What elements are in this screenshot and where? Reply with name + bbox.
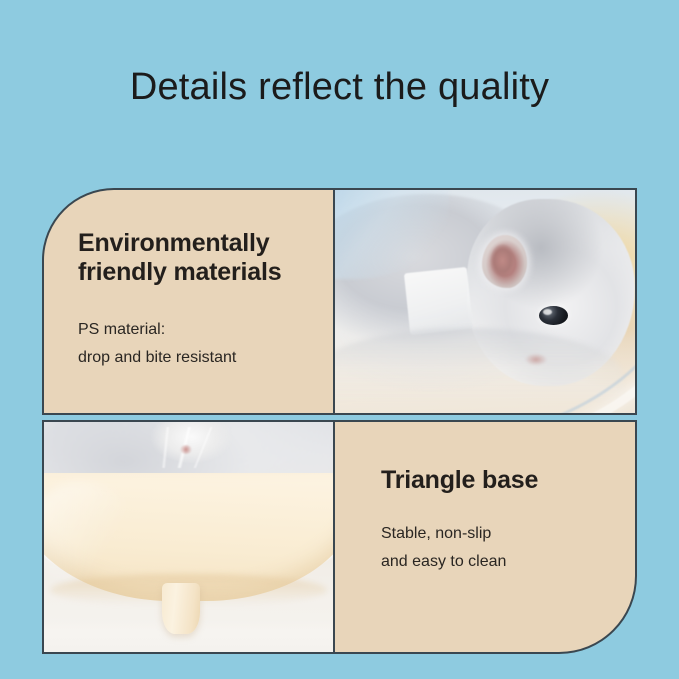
- bowl-base-photo: [44, 422, 333, 652]
- hamster-eye-glint: [543, 309, 552, 315]
- hamster-nose: [524, 353, 548, 366]
- feature-heading-triangle-base: Triangle base: [381, 466, 538, 495]
- feature-heading-environmentally-friendly-materials: Environmentally friendly materials: [78, 229, 281, 286]
- hamster-photo: [335, 190, 635, 413]
- feature-grid: Environmentally friendly materials PS ma…: [42, 188, 637, 654]
- feature-body-environmentally-friendly-materials: PS material: drop and bite resistant: [78, 316, 236, 373]
- feature-body-triangle-base: Stable, non-slip and easy to clean: [381, 520, 506, 577]
- feature-photo-bowl-base-with-leg: [42, 420, 334, 654]
- feature-photo-hamster-in-clear-bowl: [334, 188, 637, 415]
- feature-panel-triangle-base: Triangle base Stable, non-slip and easy …: [334, 420, 637, 654]
- feature-panel-environmentally-friendly-materials: Environmentally friendly materials PS ma…: [42, 188, 334, 415]
- page-title: Details reflect the quality: [0, 66, 679, 110]
- hamster-eye: [539, 306, 568, 325]
- triangle-base-leg: [162, 583, 200, 634]
